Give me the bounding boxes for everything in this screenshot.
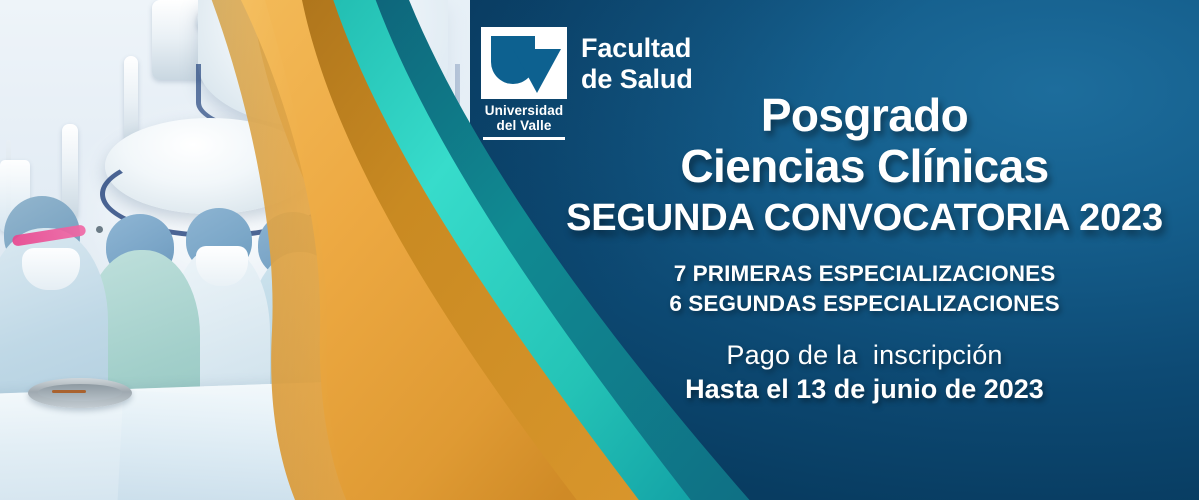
headline-ciencias-clinicas: Ciencias Clínicas xyxy=(560,142,1169,192)
specializations-block: 7 PRIMERAS ESPECIALIZACIONES 6 SEGUNDAS … xyxy=(560,259,1169,319)
logo-institution-line1: Universidad xyxy=(481,103,567,118)
headline-segunda-convocatoria: SEGUNDA CONVOCATORIA 2023 xyxy=(560,198,1169,240)
promotional-banner: Universidad del Valle Facultad de Salud … xyxy=(0,0,1199,500)
specializations-first-line: 7 PRIMERAS ESPECIALIZACIONES xyxy=(560,259,1169,289)
payment-deadline: Hasta el 13 de junio de 2023 xyxy=(560,374,1169,405)
logo-underline-rule xyxy=(483,137,565,140)
headline-posgrado: Posgrado xyxy=(560,92,1169,140)
headline-copy-block: Posgrado Ciencias Clínicas SEGUNDA CONVO… xyxy=(560,92,1169,405)
specializations-second-line: 6 SEGUNDAS ESPECIALIZACIONES xyxy=(560,289,1169,319)
logo-institution-line2: del Valle xyxy=(481,118,567,133)
logo-institution-name: Universidad del Valle xyxy=(481,103,567,133)
faculty-name: Facultad de Salud xyxy=(581,27,693,96)
logo-mark-icon xyxy=(481,27,567,99)
universidad-del-valle-logo: Universidad del Valle xyxy=(481,27,567,140)
payment-label: Pago de la inscripción xyxy=(560,340,1169,371)
